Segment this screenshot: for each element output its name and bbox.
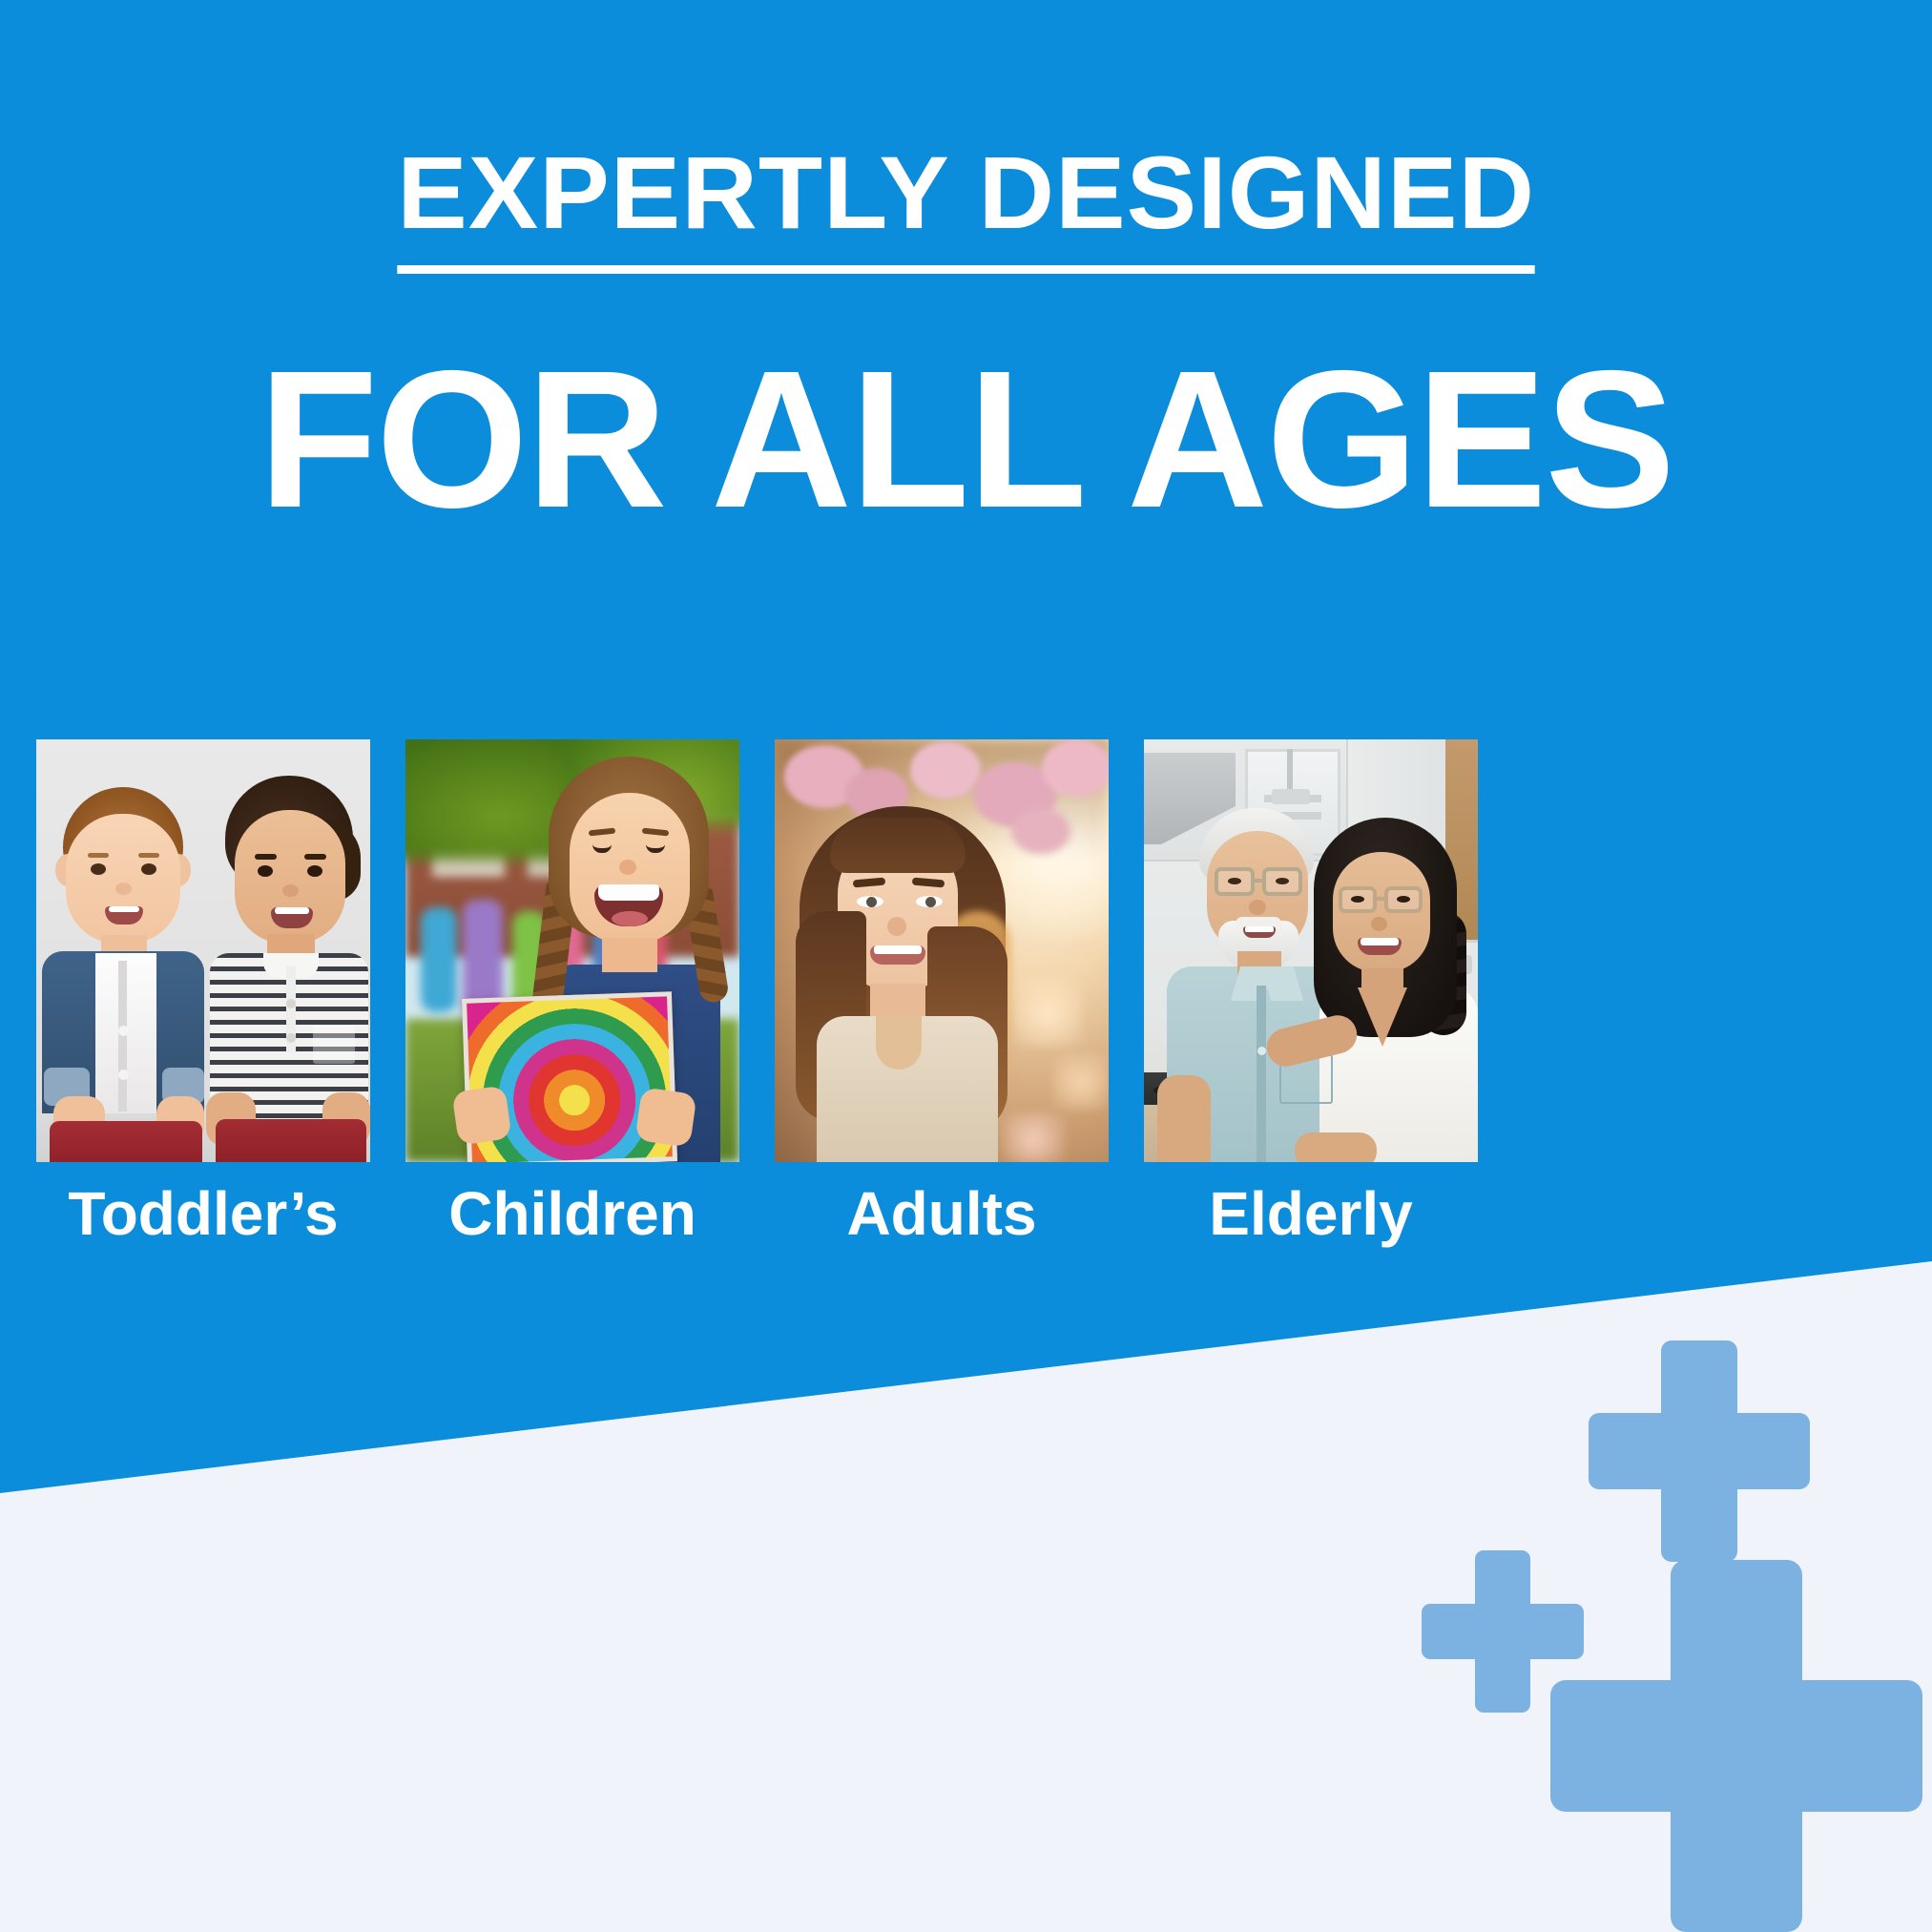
age-group-label-adults: Adults [775, 1183, 1109, 1244]
elderly-photo [1144, 739, 1478, 1162]
adults-photo [775, 739, 1109, 1162]
poster-canvas: EXPERTLY DESIGNED FOR ALL AGES [0, 0, 1932, 1932]
headline-wrap: FOR ALL AGES [0, 342, 1932, 537]
eyebrow-heading-wrap: EXPERTLY DESIGNED [0, 141, 1932, 274]
age-group-card-elderly: Elderly [1144, 739, 1478, 1244]
toddlers-photo [36, 739, 370, 1162]
age-group-card-toddlers: Toddler’s [36, 739, 370, 1244]
children-photo [405, 739, 739, 1162]
medical-cross-icon-large [1550, 1560, 1922, 1932]
age-group-row: Toddler’s [36, 739, 1897, 1244]
page-title: FOR ALL AGES [259, 342, 1673, 537]
eyebrow-heading: EXPERTLY DESIGNED [397, 141, 1535, 274]
age-group-label-children: Children [405, 1183, 739, 1244]
medical-cross-icon-medium [1589, 1340, 1810, 1562]
age-group-card-adults: Adults [775, 739, 1109, 1244]
age-group-label-elderly: Elderly [1144, 1183, 1478, 1244]
age-group-card-children: Children [405, 739, 739, 1244]
age-group-label-toddlers: Toddler’s [36, 1183, 370, 1244]
